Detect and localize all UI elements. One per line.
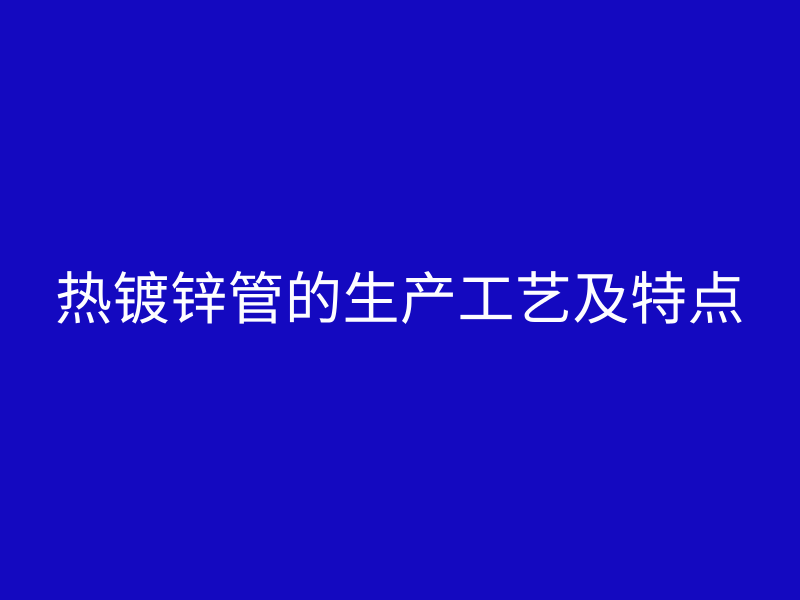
page-title: 热镀锌管的生产工艺及特点: [55, 271, 745, 329]
slide-canvas: 热镀锌管的生产工艺及特点: [0, 0, 800, 600]
headline-container: 热镀锌管的生产工艺及特点: [0, 271, 800, 329]
